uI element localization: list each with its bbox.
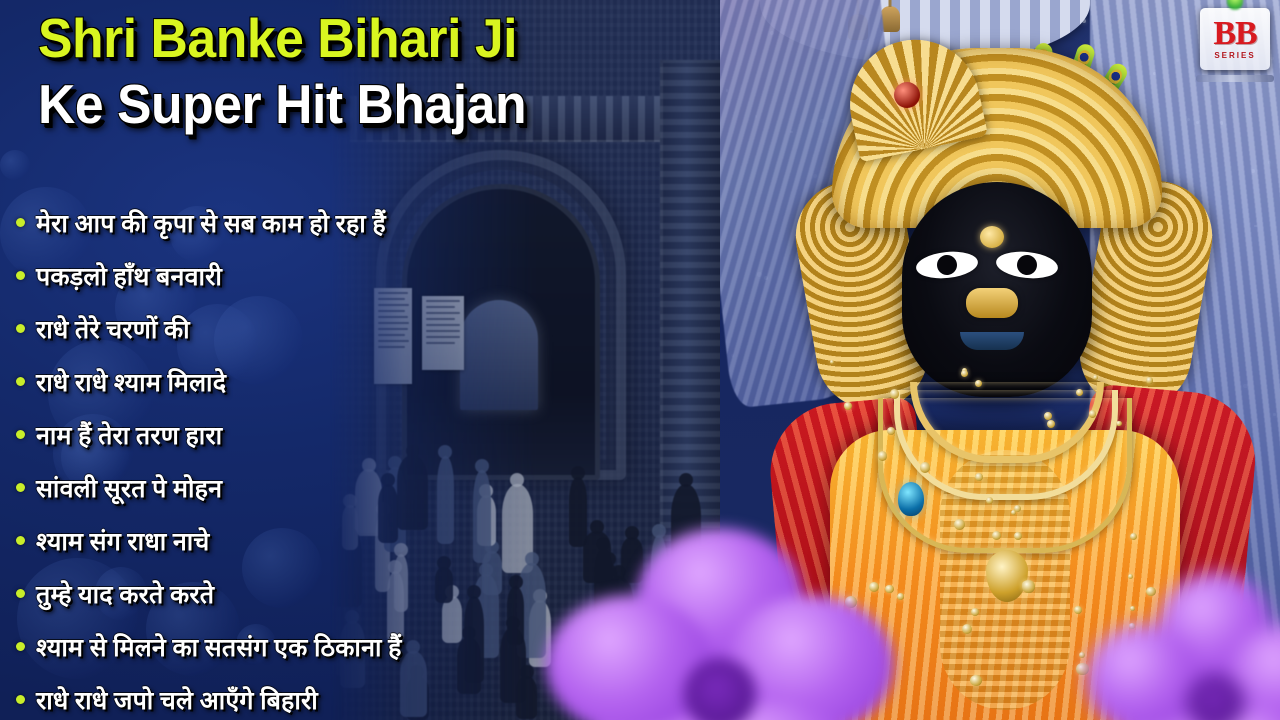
bokeh-dot — [0, 150, 30, 180]
jewel — [1146, 377, 1152, 383]
jewel — [1047, 420, 1055, 428]
bullet-icon — [16, 695, 25, 704]
track-item: श्याम से मिलने का सतसंग एक ठिकाना हैं — [16, 620, 636, 673]
track-title: मेरा आप की कृपा से सब काम हो रहा हैं — [36, 206, 386, 240]
jewel — [1074, 606, 1082, 614]
track-item: तुम्हे याद करते करते — [16, 567, 636, 620]
jewel — [920, 462, 930, 472]
jewel — [961, 370, 968, 377]
jewel — [1044, 412, 1052, 420]
track-item: राधे राधे श्याम मिलादे — [16, 355, 636, 408]
jewel — [1089, 410, 1096, 417]
jewel — [970, 675, 981, 686]
track-item: श्याम संग राधा नाचे — [16, 514, 636, 567]
jewel — [890, 389, 900, 399]
jewel — [1130, 533, 1137, 540]
blue-gem — [898, 482, 924, 516]
track-list: मेरा आप की कृपा से सब काम हो रहा हैंपकड़… — [16, 196, 636, 720]
track-title: राधे तेरे चरणों की — [36, 312, 190, 346]
nose-ornament — [966, 288, 1018, 318]
flower-center — [1187, 674, 1244, 720]
jewel — [885, 585, 893, 593]
bullet-icon — [16, 430, 25, 439]
bullet-icon — [16, 536, 25, 545]
track-item: मेरा आप की कृपा से सब काम हो रहा हैं — [16, 196, 636, 249]
jewel — [844, 402, 852, 410]
bullet-icon — [16, 483, 25, 492]
track-title: राधे राधे श्याम मिलादे — [36, 365, 226, 399]
track-title: तुम्हे याद करते करते — [36, 577, 214, 611]
bullet-icon — [16, 271, 25, 280]
track-item: सांवली सूरत पे मोहन — [16, 461, 636, 514]
jewel — [1022, 580, 1034, 592]
jewel — [830, 360, 834, 364]
title-line-1: Shri Banke Bihari Ji — [38, 8, 640, 70]
title-line-2: Ke Super Hit Bhajan — [38, 74, 640, 136]
deity-lips — [960, 332, 1024, 350]
bullet-icon — [16, 324, 25, 333]
track-title: नाम हैं तेरा तरण हारा — [36, 418, 222, 452]
flower-petal — [1086, 624, 1200, 720]
track-title: सांवली सूरत पे मोहन — [36, 471, 222, 505]
bullet-icon — [16, 642, 25, 651]
tilak-icon — [980, 226, 1004, 248]
bb-series-logo: BB SERIES — [1200, 8, 1270, 70]
track-title: श्याम से मिलने का सतसंग एक ठिकाना हैं — [36, 630, 402, 664]
track-item: राधे तेरे चरणों की — [16, 302, 636, 355]
jewel — [975, 380, 982, 387]
jewel — [1076, 389, 1083, 396]
logo-underbar — [1196, 75, 1274, 82]
title-block: Shri Banke Bihari Ji Ke Super Hit Bhajan — [38, 8, 678, 135]
purple-flower-right — [1105, 585, 1280, 720]
track-title: श्याम संग राधा नाचे — [36, 524, 209, 558]
logo-subtitle: SERIES — [1214, 51, 1255, 60]
jewel — [1014, 532, 1022, 540]
bullet-icon — [16, 218, 25, 227]
track-item: नाम हैं तेरा तरण हारा — [16, 408, 636, 461]
bullet-icon — [16, 377, 25, 386]
logo-glow-icon — [1227, 0, 1243, 10]
jewel — [1116, 421, 1122, 427]
logo-mark: BB — [1213, 18, 1256, 50]
track-title: पकड़लो हाँथ बनवारी — [36, 259, 222, 293]
track-title: राधे राधे जपो चले आएँगे बिहारी — [36, 683, 318, 717]
jewel — [1093, 375, 1098, 380]
crown-gem — [894, 82, 920, 108]
jewel — [878, 451, 887, 460]
video-thumbnail: Shri Banke Bihari Ji Ke Super Hit Bhajan… — [0, 0, 1280, 720]
track-item: राधे राधे जपो चले आएँगे बिहारी — [16, 673, 636, 720]
bullet-icon — [16, 589, 25, 598]
track-item: पकड़लो हाँथ बनवारी — [16, 249, 636, 302]
jewel — [1128, 574, 1133, 579]
jewel — [971, 608, 979, 616]
jewel — [975, 473, 983, 481]
